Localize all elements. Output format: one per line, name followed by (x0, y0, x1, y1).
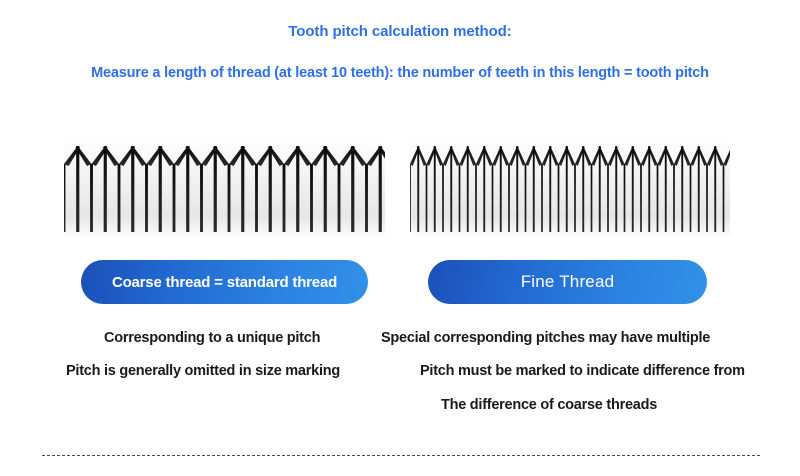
page-title: Tooth pitch calculation method: (0, 22, 800, 42)
fine-thread-image (410, 140, 730, 236)
coarse-caption-line-1: Corresponding to a unique pitch (104, 330, 320, 346)
header-block: Tooth pitch calculation method: Measure … (0, 22, 800, 83)
fine-thread-profile-graphic (410, 140, 730, 236)
fine-caption-line-1: Special corresponding pitches may have m… (381, 330, 710, 346)
coarse-caption-line-2: Pitch is generally omitted in size marki… (66, 363, 340, 379)
coarse-thread-button[interactable]: Coarse thread = standard thread (81, 260, 368, 304)
fine-caption-line-3: The difference of coarse threads (441, 397, 657, 413)
fine-caption-line-2: Pitch must be marked to indicate differe… (420, 363, 745, 379)
slide-root: Tooth pitch calculation method: Measure … (0, 0, 800, 476)
coarse-thread-image (64, 140, 385, 236)
coarse-thread-profile-graphic (64, 140, 385, 236)
footer-divider (42, 455, 760, 456)
coarse-thread-button-label: Coarse thread = standard thread (112, 274, 337, 291)
page-subtitle: Measure a length of thread (at least 10 … (0, 63, 800, 83)
fine-thread-button-label: Fine Thread (521, 272, 615, 292)
fine-thread-button[interactable]: Fine Thread (428, 260, 707, 304)
